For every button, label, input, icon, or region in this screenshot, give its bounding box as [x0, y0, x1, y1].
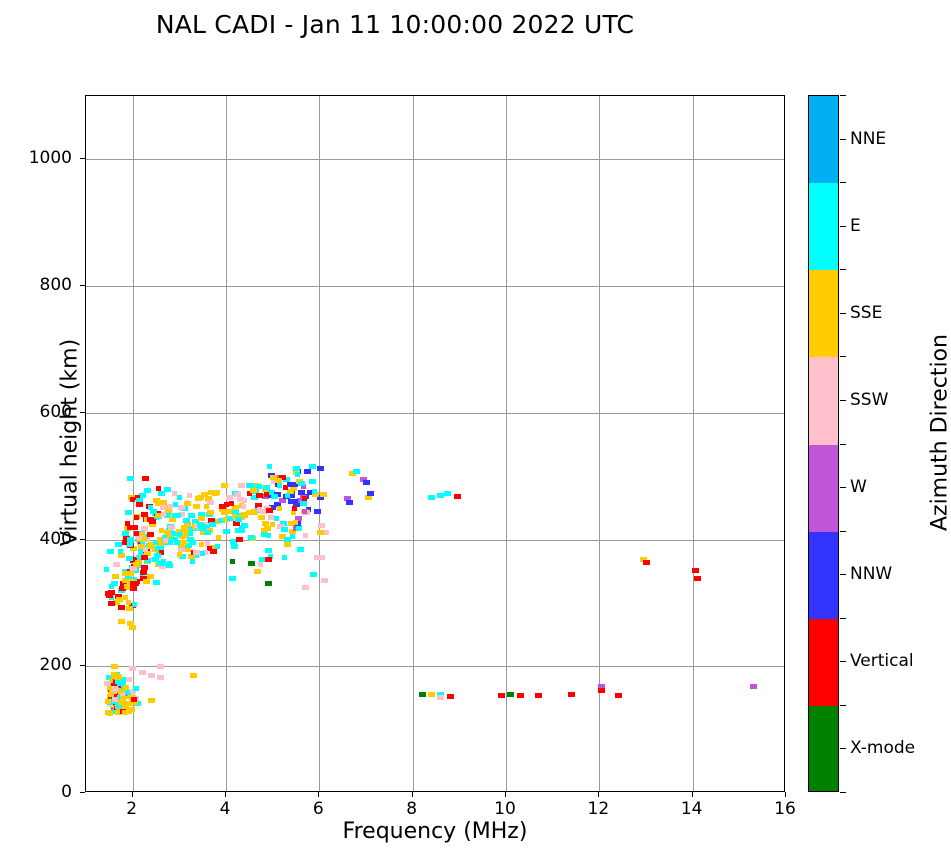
colorbar-label-nne: NNE: [850, 129, 886, 149]
data-point: [257, 507, 262, 512]
x-tick-label: 8: [392, 799, 432, 819]
data-point: [209, 522, 216, 527]
colorbar-label: Azimuth Direction: [928, 193, 951, 673]
colorbar-segment-nnw[interactable]: [809, 532, 838, 619]
colorbar-segment-ssw[interactable]: [809, 357, 838, 444]
data-point: [157, 675, 164, 680]
data-point: [221, 483, 228, 488]
data-point: [428, 692, 435, 697]
data-point: [184, 522, 191, 527]
data-point: [111, 581, 118, 586]
data-point: [293, 520, 298, 525]
data-point: [199, 542, 204, 547]
data-point: [126, 556, 133, 561]
data-point: [302, 509, 307, 514]
data-point: [150, 509, 157, 514]
y-axis-label: Virtual height (km): [58, 143, 83, 743]
x-tick-mark: [412, 792, 413, 797]
data-point: [266, 533, 271, 538]
data-point: [134, 515, 139, 520]
data-point: [118, 549, 123, 554]
data-point: [127, 476, 134, 481]
data-point: [200, 551, 205, 556]
data-point: [302, 585, 309, 590]
colorbar[interactable]: [808, 95, 839, 792]
data-point: [265, 581, 272, 586]
data-point: [242, 498, 247, 503]
data-point: [130, 586, 137, 591]
data-point: [234, 492, 241, 497]
data-point: [148, 673, 155, 678]
data-point: [235, 517, 242, 522]
data-point: [139, 670, 146, 675]
gridline-vertical: [226, 96, 227, 791]
data-point: [310, 572, 317, 577]
data-point: [154, 553, 161, 558]
data-point: [254, 569, 261, 574]
data-point: [262, 521, 269, 526]
data-point: [437, 493, 444, 498]
data-point: [283, 485, 288, 490]
data-point: [122, 540, 127, 545]
data-point: [173, 502, 178, 507]
gridline-vertical: [413, 96, 414, 791]
colorbar-boundary-tick: [840, 182, 846, 183]
x-tick-label: 16: [765, 799, 805, 819]
data-point: [303, 533, 308, 538]
y-tick-label: 0: [0, 782, 72, 802]
data-point: [108, 601, 115, 606]
data-point: [517, 693, 524, 698]
data-point: [130, 497, 135, 502]
x-tick-label: 6: [298, 799, 338, 819]
data-point: [118, 605, 125, 610]
data-point: [147, 532, 154, 537]
x-tick-mark: [318, 792, 319, 797]
data-point: [290, 534, 295, 539]
data-point: [219, 504, 226, 509]
data-point: [161, 512, 166, 517]
y-tick-mark: [80, 792, 85, 793]
data-point: [116, 597, 123, 602]
data-point: [163, 538, 168, 543]
data-point: [123, 685, 129, 690]
data-point: [204, 504, 209, 509]
data-point: [535, 693, 542, 698]
data-point: [132, 602, 137, 607]
data-point: [112, 574, 119, 579]
data-point: [275, 478, 282, 483]
colorbar-boundary-tick: [840, 705, 846, 706]
data-point: [177, 552, 182, 557]
data-point: [317, 466, 324, 471]
data-point: [750, 684, 757, 689]
data-point: [164, 530, 171, 535]
data-point: [159, 528, 164, 533]
colorbar-tick: [840, 313, 846, 314]
data-point: [107, 711, 113, 716]
data-point: [507, 692, 514, 697]
data-point: [190, 673, 197, 678]
data-point: [293, 466, 300, 471]
data-point: [248, 535, 255, 540]
data-point: [265, 557, 272, 562]
colorbar-boundary-tick: [840, 444, 846, 445]
data-point: [126, 677, 132, 682]
data-point: [168, 504, 173, 509]
data-point: [148, 698, 155, 703]
x-tick-label: 14: [672, 799, 712, 819]
x-tick-mark: [505, 792, 506, 797]
data-point: [258, 562, 263, 567]
data-point: [304, 469, 311, 474]
data-point: [127, 537, 134, 542]
data-point: [295, 472, 300, 477]
data-point: [297, 547, 304, 552]
colorbar-tick: [840, 226, 846, 227]
data-point: [320, 492, 327, 497]
data-point: [694, 576, 701, 581]
data-point: [174, 513, 181, 518]
colorbar-tick: [840, 487, 846, 488]
data-point: [130, 581, 137, 586]
data-point: [105, 591, 112, 596]
data-point: [105, 699, 111, 704]
colorbar-segment-e[interactable]: [809, 183, 838, 270]
data-point: [147, 517, 154, 522]
figure-root: NAL CADI - Jan 11 10:00:00 2022 UTC 2468…: [0, 0, 951, 856]
data-point: [104, 567, 109, 572]
data-point: [177, 532, 182, 537]
data-point: [265, 548, 272, 553]
x-tick-label: 10: [485, 799, 525, 819]
data-point: [208, 490, 213, 495]
data-point: [178, 505, 185, 510]
data-point: [291, 499, 298, 504]
colorbar-label-vertical: Vertical: [850, 651, 914, 671]
data-point: [292, 506, 297, 511]
colorbar-segment-sse[interactable]: [809, 270, 838, 357]
data-point: [229, 576, 236, 581]
data-point: [277, 506, 282, 511]
data-point: [367, 491, 374, 496]
data-point: [147, 574, 154, 579]
data-point: [193, 504, 200, 509]
data-point: [346, 500, 353, 505]
data-point: [256, 493, 263, 498]
data-point: [353, 469, 360, 474]
data-point: [309, 479, 316, 484]
colorbar-segment-vertical[interactable]: [809, 619, 838, 706]
data-point: [232, 509, 239, 514]
data-point: [159, 561, 166, 566]
colorbar-tick: [840, 748, 846, 749]
data-point: [143, 547, 148, 552]
data-point: [167, 561, 172, 566]
data-point: [153, 580, 160, 585]
data-point: [123, 595, 128, 600]
colorbar-label-w: W: [850, 477, 867, 497]
data-point: [125, 521, 130, 526]
x-tick-label: 2: [112, 799, 152, 819]
data-point: [300, 501, 307, 506]
colorbar-boundary-tick: [840, 531, 846, 532]
data-point: [113, 562, 120, 567]
colorbar-label-ssw: SSW: [850, 390, 888, 410]
data-point: [314, 509, 321, 514]
colorbar-tick: [840, 139, 846, 140]
data-point: [274, 516, 279, 521]
data-point: [309, 464, 316, 469]
gridline-vertical: [693, 96, 694, 791]
x-axis-label: Frequency (MHz): [85, 819, 785, 844]
data-point: [277, 483, 282, 488]
data-point: [195, 496, 202, 501]
data-point: [107, 549, 114, 554]
data-point: [129, 625, 136, 630]
data-point: [144, 488, 151, 493]
data-point: [317, 530, 324, 535]
colorbar-segment-nne[interactable]: [809, 96, 838, 183]
data-point: [153, 498, 160, 503]
colorbar-tick: [840, 661, 846, 662]
data-point: [190, 559, 195, 564]
data-point: [160, 505, 167, 510]
data-point: [236, 537, 243, 542]
data-point: [204, 530, 211, 535]
data-point: [318, 523, 325, 528]
data-point: [437, 695, 444, 700]
colorbar-label-nnw: NNW: [850, 564, 892, 584]
data-point: [141, 565, 148, 570]
data-point: [226, 495, 233, 500]
data-point: [324, 530, 329, 535]
x-tick-mark: [225, 792, 226, 797]
data-point: [188, 531, 193, 536]
data-point: [223, 529, 230, 534]
data-point: [296, 526, 301, 531]
data-point: [213, 490, 220, 495]
data-point: [207, 510, 214, 515]
data-point: [230, 559, 235, 564]
data-point: [141, 526, 148, 531]
data-point: [281, 527, 288, 532]
data-point: [498, 693, 505, 698]
data-point: [126, 600, 131, 605]
data-point: [210, 549, 217, 554]
gridline-horizontal: [86, 413, 784, 414]
data-point: [285, 493, 290, 498]
data-point: [282, 555, 287, 560]
data-point: [231, 544, 238, 549]
x-tick-mark: [598, 792, 599, 797]
data-point: [122, 571, 127, 576]
data-point: [216, 535, 221, 540]
data-point: [183, 518, 190, 523]
colorbar-boundary-tick: [840, 792, 846, 793]
data-point: [136, 502, 143, 507]
data-point: [264, 526, 271, 531]
colorbar-boundary-tick: [840, 356, 846, 357]
gridline-horizontal: [86, 159, 784, 160]
data-point: [298, 481, 305, 486]
data-point: [312, 489, 317, 494]
data-point: [264, 492, 269, 497]
data-point: [241, 504, 246, 509]
colorbar-boundary-tick: [840, 95, 846, 96]
colorbar-label-x-mode: X-mode: [850, 738, 915, 758]
data-point: [643, 560, 650, 565]
data-point: [267, 464, 272, 469]
data-point: [238, 483, 245, 488]
data-point: [419, 692, 426, 697]
data-point: [142, 476, 149, 481]
data-point: [263, 485, 270, 490]
data-point: [598, 688, 605, 693]
gridline-horizontal: [86, 286, 784, 287]
data-point: [447, 694, 454, 699]
data-point: [131, 697, 137, 702]
data-point: [133, 686, 139, 691]
data-point: [248, 561, 255, 566]
colorbar-segment-w[interactable]: [809, 445, 838, 532]
data-point: [122, 531, 129, 536]
data-point: [428, 495, 435, 500]
data-point: [125, 510, 132, 515]
gridline-horizontal: [86, 666, 784, 667]
data-point: [180, 540, 187, 545]
data-point: [454, 494, 461, 499]
data-point: [568, 692, 575, 697]
data-point: [314, 555, 321, 560]
colorbar-segment-x-mode[interactable]: [809, 706, 838, 792]
chart-title: NAL CADI - Jan 11 10:00:00 2022 UTC: [0, 10, 790, 39]
x-tick-mark: [785, 792, 786, 797]
gridline-vertical: [319, 96, 320, 791]
x-tick-label: 4: [205, 799, 245, 819]
data-point: [120, 696, 126, 701]
data-point: [156, 486, 161, 491]
data-point: [164, 487, 171, 492]
data-point: [168, 525, 175, 530]
data-point: [134, 531, 139, 536]
data-point: [266, 508, 273, 513]
data-point: [189, 540, 196, 545]
plot-area[interactable]: [85, 95, 785, 792]
data-point: [141, 555, 148, 560]
data-point: [157, 664, 164, 669]
data-point: [143, 579, 150, 584]
data-point: [114, 675, 120, 680]
data-point: [692, 568, 699, 573]
data-point: [133, 562, 140, 567]
data-point: [187, 493, 192, 498]
colorbar-tick: [840, 574, 846, 575]
data-point: [129, 666, 136, 671]
colorbar-boundary-tick: [840, 618, 846, 619]
data-point: [302, 496, 307, 501]
colorbar-label-sse: SSE: [850, 303, 882, 323]
x-tick-mark: [132, 792, 133, 797]
gridline-vertical: [506, 96, 507, 791]
data-point: [284, 542, 291, 547]
data-point: [177, 495, 182, 500]
colorbar-boundary-tick: [840, 269, 846, 270]
data-point: [363, 480, 370, 485]
colorbar-label-e: E: [850, 216, 861, 236]
data-point: [215, 544, 220, 549]
x-tick-label: 12: [578, 799, 618, 819]
data-point: [229, 501, 234, 506]
data-point: [444, 491, 451, 496]
colorbar-tick: [840, 400, 846, 401]
data-point: [111, 664, 118, 669]
x-tick-mark: [692, 792, 693, 797]
data-point: [271, 494, 278, 499]
data-point: [104, 681, 110, 686]
data-point: [291, 510, 296, 515]
data-point: [615, 693, 622, 698]
data-point: [235, 528, 242, 533]
data-point: [193, 550, 200, 555]
data-point: [118, 619, 125, 624]
data-point: [321, 578, 328, 583]
data-point: [198, 516, 205, 521]
data-point: [241, 523, 248, 528]
data-point: [258, 515, 265, 520]
data-point: [129, 707, 135, 712]
